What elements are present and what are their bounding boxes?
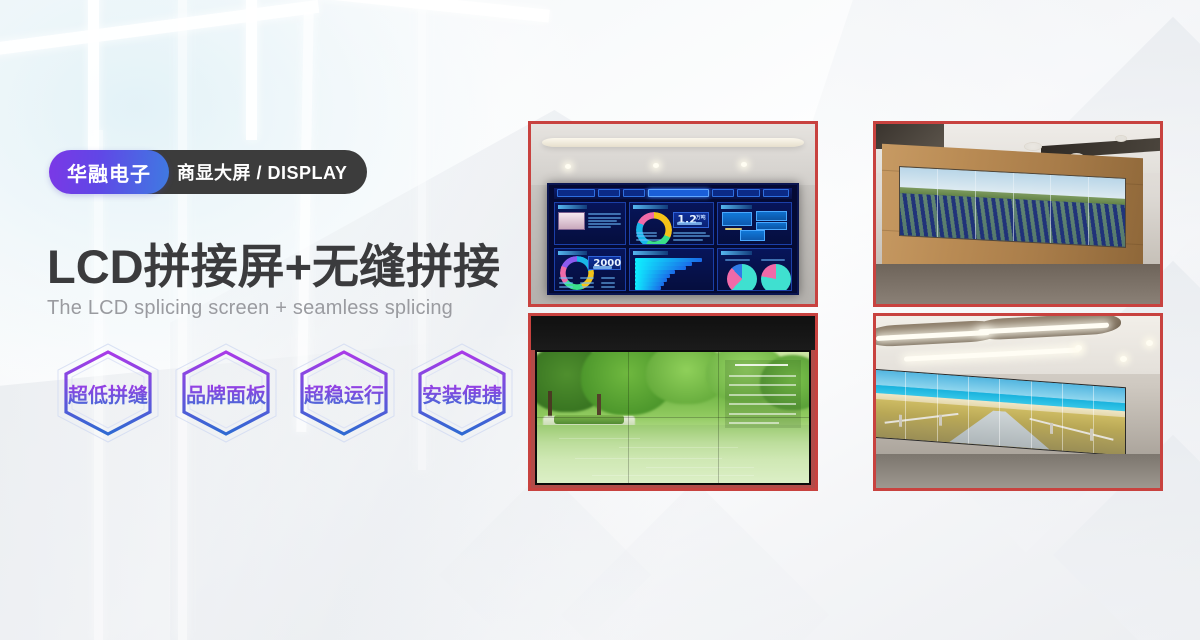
feature-badge-row: 超低拼缝 品牌面板 [49,338,521,448]
feature-badge-label: 超低拼缝 [68,379,148,408]
photo-scene: 1.2 万吨 [531,124,815,304]
video-wall-screen [537,352,809,483]
photo-beach-boardwalk-video-wall[interactable] [873,313,1163,491]
page-title: LCD拼接屏+无缝拼接 [47,228,500,297]
category-badge: 商显大屏 / DISPLAY [143,150,367,194]
badge-row: 华融电子 商显大屏 / DISPLAY [49,150,367,194]
photo-lakeside-video-wall[interactable] [528,313,818,491]
brand-badge: 华融电子 [49,150,169,194]
feature-badge-label: 品牌面板 [186,379,266,408]
feature-badge-label: 安装便捷 [422,379,502,408]
page-subtitle: The LCD splicing screen + seamless splic… [47,297,453,320]
photo-dashboard-video-wall[interactable]: 1.2 万吨 [528,121,818,307]
feature-badge-4: 安装便捷 [403,338,521,448]
feature-badge-3: 超稳运行 [285,338,403,448]
feature-badge-2: 品牌面板 [167,338,285,448]
feature-badge-label: 超稳运行 [304,379,384,408]
dashboard-metric-primary-unit: 万吨 [696,214,706,221]
feature-badge-1: 超低拼缝 [49,338,167,448]
photo-solar-farm-video-wall[interactable] [873,121,1163,307]
video-wall-screen: 1.2 万吨 [547,183,800,295]
photo-scene [876,124,1160,304]
video-wall-screen [899,166,1126,248]
photo-scene [876,316,1160,488]
product-banner: 华融电子 商显大屏 / DISPLAY LCD拼接屏+无缝拼接 The LCD … [0,0,1200,640]
photo-scene [531,316,815,488]
banner-text-column: 华融电子 商显大屏 / DISPLAY LCD拼接屏+无缝拼接 The LCD … [0,0,520,640]
